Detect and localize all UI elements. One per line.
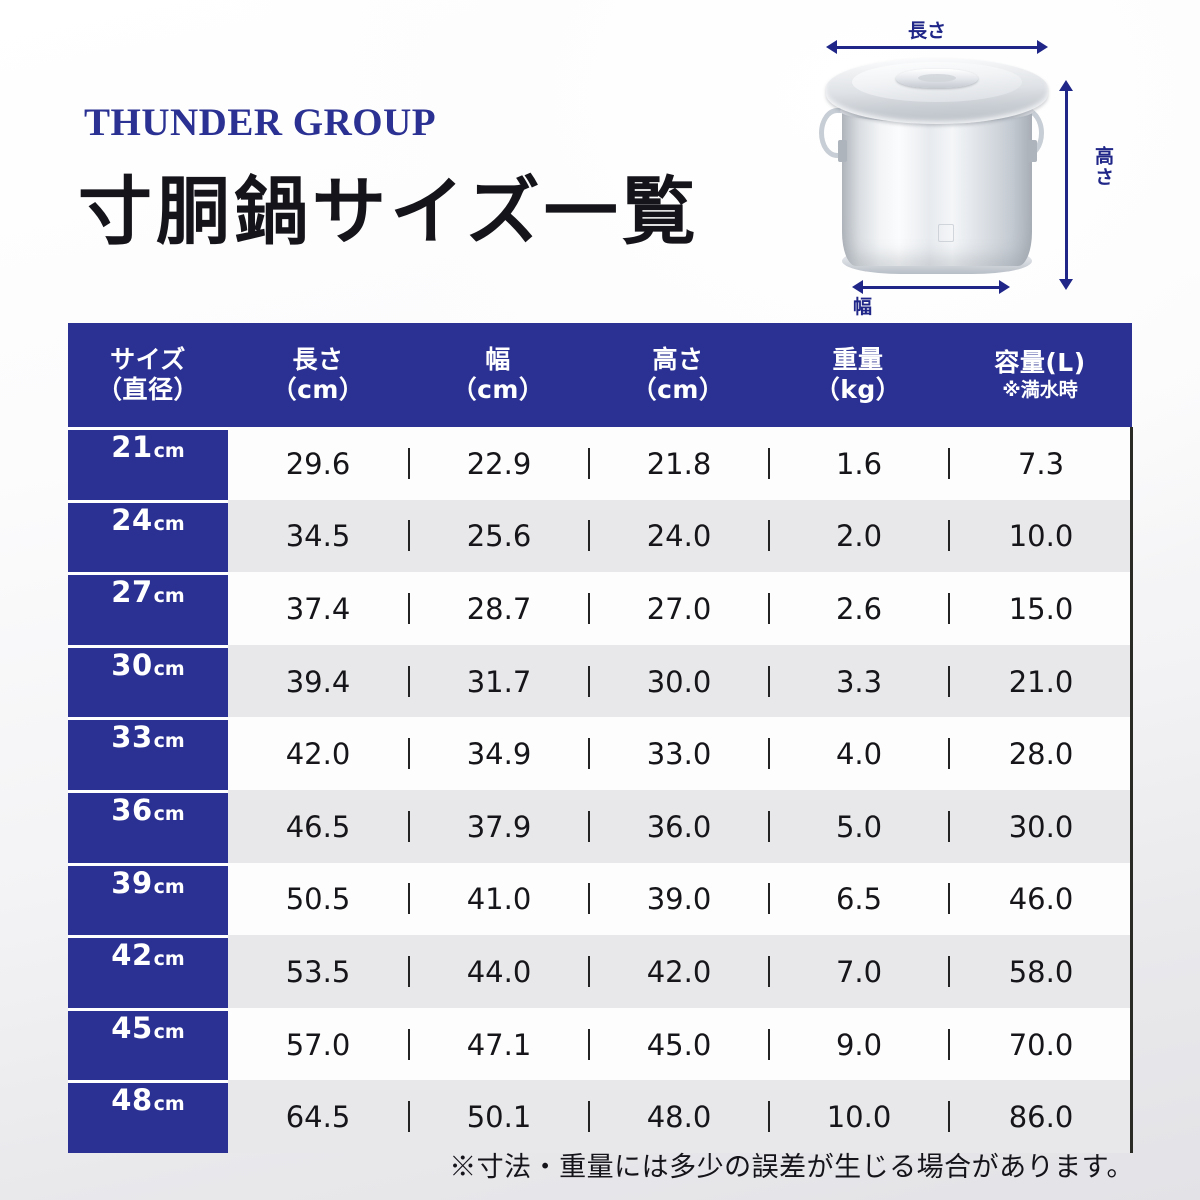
header-line2: （cm） (632, 375, 725, 406)
header-line1: サイズ (110, 345, 186, 376)
cell-length: 53.5 (228, 956, 408, 987)
cell-length: 29.6 (228, 448, 408, 479)
size-unit: cm (154, 658, 185, 680)
cell-height: 24.0 (588, 520, 768, 551)
footnote-text: ※寸法・重量には多少の誤差が生じる場合があります。 (449, 1145, 1134, 1184)
pot-lid (826, 58, 1048, 124)
pot-body (842, 106, 1032, 266)
cell-capacity: 10.0 (948, 520, 1132, 551)
cell-capacity: 15.0 (948, 593, 1132, 624)
cell-height: 39.0 (588, 883, 768, 914)
size-table: サイズ （直径） 長さ （cm） 幅 （cm） 高さ （cm） 重量 （kg） … (68, 323, 1132, 1153)
cell-capacity: 30.0 (948, 811, 1132, 842)
size-unit: cm (154, 513, 185, 535)
table-row: 30cm39.431.730.03.321.0 (68, 645, 1132, 718)
cell-capacity: 46.0 (948, 883, 1132, 914)
header-cell-height: 高さ （cm） (588, 323, 768, 427)
cell-weight: 5.0 (768, 811, 948, 842)
header-line1: 高さ (652, 345, 703, 376)
row-values: 64.550.148.010.086.0 (228, 1080, 1132, 1153)
cell-size: 27cm (68, 572, 228, 645)
table-header-row: サイズ （直径） 長さ （cm） 幅 （cm） 高さ （cm） 重量 （kg） … (68, 323, 1132, 427)
cell-length: 42.0 (228, 738, 408, 769)
table-row: 48cm64.550.148.010.086.0 (68, 1080, 1132, 1153)
size-number: 48 (111, 1083, 152, 1117)
header-cell-capacity: 容量(L) ※満水時 (948, 323, 1132, 427)
cell-width: 44.0 (408, 956, 588, 987)
cell-width: 47.1 (408, 1029, 588, 1060)
cell-length: 39.4 (228, 666, 408, 697)
cell-weight: 4.0 (768, 738, 948, 769)
size-number: 24 (111, 503, 152, 537)
pot-lid-handle-icon (896, 69, 978, 88)
cell-width: 50.1 (408, 1101, 588, 1132)
header-line1: 容量(L) (994, 348, 1085, 379)
size-number: 36 (111, 793, 152, 827)
cell-length: 57.0 (228, 1029, 408, 1060)
cell-size: 42cm (68, 935, 228, 1008)
cell-weight: 2.6 (768, 593, 948, 624)
table-row: 24cm34.525.624.02.010.0 (68, 500, 1132, 573)
row-values: 39.431.730.03.321.0 (228, 645, 1132, 718)
table-row: 21cm29.622.921.81.67.3 (68, 427, 1132, 500)
cell-capacity: 21.0 (948, 666, 1132, 697)
cell-height: 21.8 (588, 448, 768, 479)
pot-bracket-right (1028, 140, 1037, 162)
row-values: 29.622.921.81.67.3 (228, 427, 1132, 500)
header-line1: 重量 (832, 345, 883, 376)
cell-size: 21cm (68, 427, 228, 500)
cell-height: 36.0 (588, 811, 768, 842)
table-body: 21cm29.622.921.81.67.324cm34.525.624.02.… (68, 427, 1132, 1153)
size-unit: cm (154, 803, 185, 825)
page-title: 寸胴鍋サイズ一覧 (78, 152, 700, 259)
cell-size: 48cm (68, 1080, 228, 1153)
header-cell-length: 長さ （cm） (228, 323, 408, 427)
cell-width: 37.9 (408, 811, 588, 842)
size-unit: cm (154, 948, 185, 970)
cell-length: 46.5 (228, 811, 408, 842)
header-line2: （cm） (452, 375, 545, 406)
row-values: 46.537.936.05.030.0 (228, 790, 1132, 863)
table-row: 45cm57.047.145.09.070.0 (68, 1008, 1132, 1081)
size-number: 27 (111, 575, 152, 609)
cell-width: 41.0 (408, 883, 588, 914)
size-unit: cm (154, 730, 185, 752)
header-cell-weight: 重量 （kg） (768, 323, 948, 427)
row-values: 50.541.039.06.546.0 (228, 863, 1132, 936)
cell-height: 27.0 (588, 593, 768, 624)
cell-height: 48.0 (588, 1101, 768, 1132)
cell-size: 45cm (68, 1008, 228, 1081)
table-right-border (1130, 427, 1133, 1153)
table-row: 42cm53.544.042.07.058.0 (68, 935, 1132, 1008)
header-line2: （cm） (272, 375, 365, 406)
cell-size: 33cm (68, 717, 228, 790)
dimension-label-height: 高さ (1090, 146, 1117, 188)
header-cell-width: 幅 （cm） (408, 323, 588, 427)
header-cell-size: サイズ （直径） (68, 323, 228, 427)
width-arrow-icon (852, 280, 1010, 294)
table-row: 36cm46.537.936.05.030.0 (68, 790, 1132, 863)
cell-height: 33.0 (588, 738, 768, 769)
header-line1: 長さ (292, 345, 343, 376)
cell-weight: 6.5 (768, 883, 948, 914)
pot-bracket-left (838, 140, 847, 162)
cell-length: 37.4 (228, 593, 408, 624)
row-values: 53.544.042.07.058.0 (228, 935, 1132, 1008)
row-values: 42.034.933.04.028.0 (228, 717, 1132, 790)
cell-height: 42.0 (588, 956, 768, 987)
table-row: 27cm37.428.727.02.615.0 (68, 572, 1132, 645)
cell-height: 45.0 (588, 1029, 768, 1060)
row-values: 37.428.727.02.615.0 (228, 572, 1132, 645)
cell-width: 22.9 (408, 448, 588, 479)
cell-width: 28.7 (408, 593, 588, 624)
row-values: 57.047.145.09.070.0 (228, 1008, 1132, 1081)
cell-weight: 9.0 (768, 1029, 948, 1060)
size-number: 42 (111, 938, 152, 972)
size-chart-page: THUNDER GROUP 寸胴鍋サイズ一覧 長さ 高さ (0, 0, 1200, 1200)
cell-width: 25.6 (408, 520, 588, 551)
brand-title: THUNDER GROUP (84, 100, 436, 145)
cell-length: 34.5 (228, 520, 408, 551)
size-number: 33 (111, 720, 152, 754)
cell-length: 50.5 (228, 883, 408, 914)
cell-width: 31.7 (408, 666, 588, 697)
size-unit: cm (154, 1021, 185, 1043)
size-number: 21 (111, 430, 152, 464)
cell-size: 39cm (68, 863, 228, 936)
height-arrow-icon (1059, 80, 1073, 290)
size-unit: cm (154, 440, 185, 462)
row-values: 34.525.624.02.010.0 (228, 500, 1132, 573)
cell-length: 64.5 (228, 1101, 408, 1132)
cell-height: 30.0 (588, 666, 768, 697)
table-row: 33cm42.034.933.04.028.0 (68, 717, 1132, 790)
size-unit: cm (154, 1093, 185, 1115)
cell-size: 30cm (68, 645, 228, 718)
cell-weight: 2.0 (768, 520, 948, 551)
cell-capacity: 70.0 (948, 1029, 1132, 1060)
cell-weight: 3.3 (768, 666, 948, 697)
cell-weight: 10.0 (768, 1101, 948, 1132)
size-number: 30 (111, 648, 152, 682)
header-line2: （直径） (97, 375, 199, 406)
cell-size: 24cm (68, 500, 228, 573)
stock-pot-image (822, 50, 1052, 285)
size-unit: cm (154, 585, 185, 607)
pot-stamp-icon (938, 224, 954, 242)
table-row: 39cm50.541.039.06.546.0 (68, 863, 1132, 936)
size-number: 45 (111, 1011, 152, 1045)
cell-capacity: 28.0 (948, 738, 1132, 769)
header-line2: （kg） (815, 375, 902, 406)
size-number: 39 (111, 866, 152, 900)
cell-capacity: 58.0 (948, 956, 1132, 987)
cell-width: 34.9 (408, 738, 588, 769)
header-line2: ※満水時 (1002, 379, 1077, 402)
size-unit: cm (154, 876, 185, 898)
cell-weight: 7.0 (768, 956, 948, 987)
cell-capacity: 86.0 (948, 1101, 1132, 1132)
dimension-label-width: 幅 (853, 292, 872, 319)
cell-size: 36cm (68, 790, 228, 863)
cell-capacity: 7.3 (948, 448, 1132, 479)
dimension-label-length: 長さ (908, 16, 946, 43)
header-line1: 幅 (485, 345, 511, 376)
product-diagram: 長さ 高さ 幅 (800, 8, 1192, 320)
cell-weight: 1.6 (768, 448, 948, 479)
